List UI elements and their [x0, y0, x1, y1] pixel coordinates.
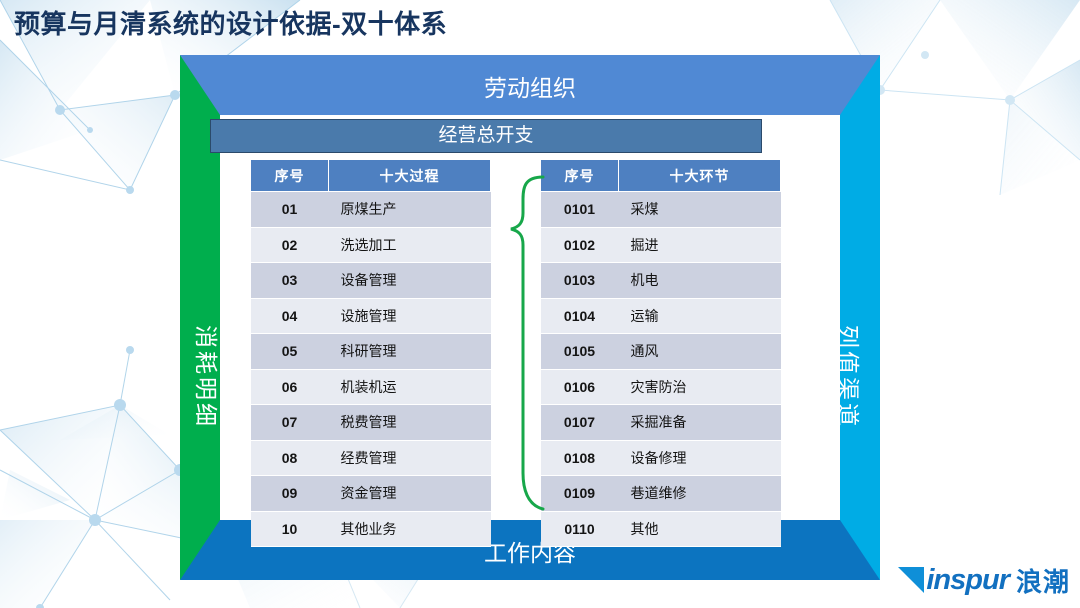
cell-name: 机电: [619, 263, 781, 299]
column-header-no: 序号: [541, 160, 619, 192]
logo-chinese-name: 浪潮: [1016, 562, 1070, 599]
column-header-no: 序号: [251, 160, 329, 192]
cell-no: 08: [251, 440, 329, 476]
cell-no: 09: [251, 476, 329, 512]
cell-no: 0104: [541, 298, 619, 334]
cell-no: 0108: [541, 440, 619, 476]
cell-no: 0102: [541, 227, 619, 263]
table-row: 0108 设备修理: [541, 440, 781, 476]
cell-name: 采掘准备: [619, 405, 781, 441]
table-header-row: 序号 十大过程: [251, 160, 491, 192]
column-header-name: 十大环节: [619, 160, 781, 192]
logo-triangle-icon: [898, 567, 924, 593]
cell-no: 0105: [541, 334, 619, 370]
cell-name: 巷道维修: [619, 476, 781, 512]
table-row: 0109 巷道维修: [541, 476, 781, 512]
cell-no: 07: [251, 405, 329, 441]
cell-name: 设施管理: [329, 298, 491, 334]
cell-name: 资金管理: [329, 476, 491, 512]
cell-name: 洗选加工: [329, 227, 491, 263]
cell-no: 01: [251, 192, 329, 228]
cell-no: 05: [251, 334, 329, 370]
cell-name: 税费管理: [329, 405, 491, 441]
cell-no: 06: [251, 369, 329, 405]
cell-no: 0107: [541, 405, 619, 441]
double-ten-diagram: 劳动组织 工作内容 消耗明细 列值渠道 经营总开支 序号 十大过程 01 原煤生…: [180, 55, 880, 580]
table-row: 02 洗选加工: [251, 227, 491, 263]
cell-name: 机装机运: [329, 369, 491, 405]
table-row: 0105 通风: [541, 334, 781, 370]
right-band-label: 列值渠道: [833, 287, 867, 467]
cell-no: 0101: [541, 192, 619, 228]
ten-processes-table: 序号 十大过程 01 原煤生产 02 洗选加工 03 设备管理 04 设施管理: [250, 159, 491, 547]
cell-no: 0106: [541, 369, 619, 405]
top-banner-label: 劳动组织: [180, 69, 880, 103]
left-band-label: 消耗明细: [191, 287, 225, 467]
table-row: 01 原煤生产: [251, 192, 491, 228]
total-expense-bar: 经营总开支: [210, 119, 762, 153]
cell-no: 03: [251, 263, 329, 299]
cell-name: 设备管理: [329, 263, 491, 299]
cell-no: 02: [251, 227, 329, 263]
cell-no: 04: [251, 298, 329, 334]
table-row: 10 其他业务: [251, 511, 491, 547]
cell-no: 0109: [541, 476, 619, 512]
cell-name: 原煤生产: [329, 192, 491, 228]
table-row: 09 资金管理: [251, 476, 491, 512]
cell-name: 通风: [619, 334, 781, 370]
table-row: 0104 运输: [541, 298, 781, 334]
inspur-logo: inspur 浪潮: [898, 560, 1070, 600]
table-row: 07 税费管理: [251, 405, 491, 441]
cell-name: 其他业务: [329, 511, 491, 547]
table-row: 0101 采煤: [541, 192, 781, 228]
table-row: 08 经费管理: [251, 440, 491, 476]
table-row: 0103 机电: [541, 263, 781, 299]
ten-links-table: 序号 十大环节 0101 采煤 0102 掘进 0103 机电 0104 运输: [540, 159, 781, 547]
logo-wordmark: inspur: [926, 564, 1009, 597]
cell-no: 10: [251, 511, 329, 547]
cell-name: 经费管理: [329, 440, 491, 476]
table-row: 0102 掘进: [541, 227, 781, 263]
table-row: 0107 采掘准备: [541, 405, 781, 441]
table-row: 0106 灾害防治: [541, 369, 781, 405]
cell-no: 0110: [541, 511, 619, 547]
cell-no: 0103: [541, 263, 619, 299]
table-row: 03 设备管理: [251, 263, 491, 299]
page-title: 预算与月清系统的设计依据-双十体系: [14, 4, 447, 41]
table-row: 04 设施管理: [251, 298, 491, 334]
table-row: 0110 其他: [541, 511, 781, 547]
green-brace-icon: [485, 173, 545, 513]
cell-name: 掘进: [619, 227, 781, 263]
table-row: 06 机装机运: [251, 369, 491, 405]
cell-name: 科研管理: [329, 334, 491, 370]
cell-name: 采煤: [619, 192, 781, 228]
cell-name: 灾害防治: [619, 369, 781, 405]
column-header-name: 十大过程: [329, 160, 491, 192]
cell-name: 运输: [619, 298, 781, 334]
table-row: 05 科研管理: [251, 334, 491, 370]
table-header-row: 序号 十大环节: [541, 160, 781, 192]
cell-name: 其他: [619, 511, 781, 547]
cell-name: 设备修理: [619, 440, 781, 476]
